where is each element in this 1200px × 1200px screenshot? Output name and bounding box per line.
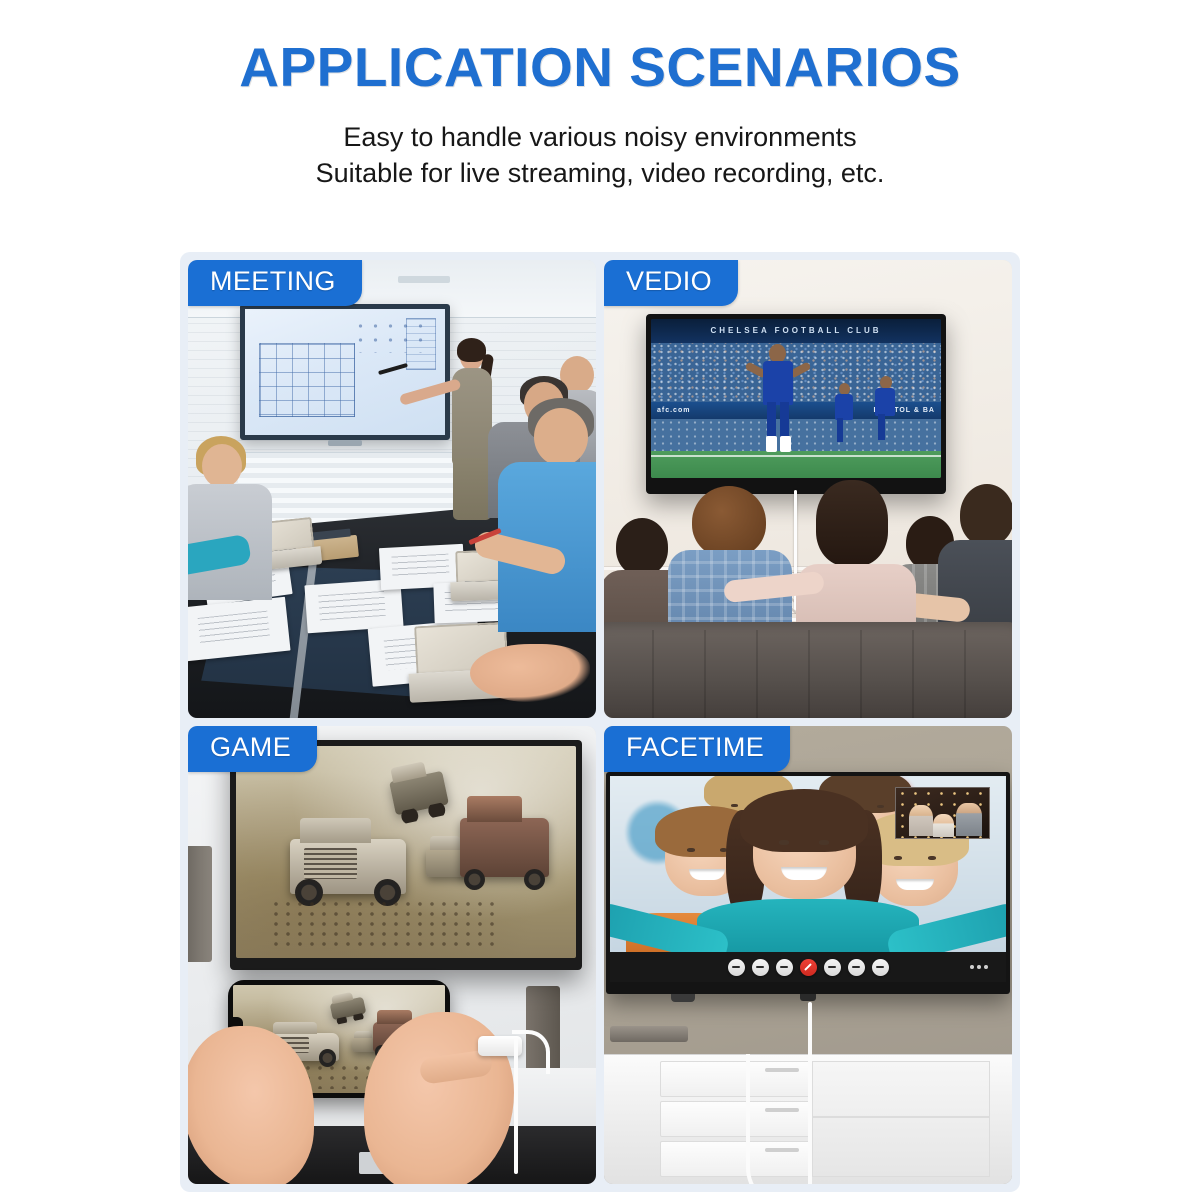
cabinet-shelf: [812, 1061, 990, 1177]
player-head: [839, 383, 850, 395]
player-jersey: [875, 388, 895, 416]
typing-hands: [470, 644, 590, 702]
page-subtitle: Easy to handle various noisy environment…: [0, 120, 1200, 192]
caller-center-sweater: [697, 899, 919, 952]
call-control-bar: [610, 952, 1006, 982]
floor-plan-graphic: [259, 343, 355, 417]
tv-indicator: [800, 994, 816, 1001]
eye: [731, 804, 737, 807]
tv-screen-video-call: [610, 776, 1006, 952]
eye: [779, 840, 788, 845]
share-button[interactable]: [848, 959, 865, 976]
smile: [896, 879, 934, 890]
suv-grille: [304, 848, 357, 879]
meeting-scene-image: [188, 260, 596, 718]
attendee-head: [534, 408, 588, 466]
eye: [877, 805, 884, 808]
footballer-celebrating: [755, 344, 801, 456]
page-header: APPLICATION SCENARIOS Easy to handle var…: [0, 0, 1200, 192]
hair: [740, 789, 868, 852]
plan-legend-graphic: [406, 318, 436, 370]
player-leg: [878, 414, 885, 440]
viewer-head: [960, 484, 1012, 546]
player-leg: [767, 402, 776, 438]
viewer-head: [616, 518, 668, 576]
footballer-background: [831, 383, 857, 449]
player-sock: [766, 436, 777, 452]
more-options-icon[interactable]: [970, 965, 988, 969]
subtitle-line-1: Easy to handle various noisy environment…: [0, 120, 1200, 156]
eye: [687, 848, 694, 852]
player-leg: [837, 418, 843, 442]
hdmi-cable: [514, 1038, 518, 1174]
tv-cable: [808, 1002, 812, 1184]
scenario-panel-vedio[interactable]: CHELSEA FOOTBALL CLUB afc.com BRISTOL & …: [604, 260, 1012, 718]
viewer-head: [816, 480, 888, 566]
picture-in-picture-thumbnail[interactable]: [895, 787, 990, 840]
pip-person: [956, 803, 982, 837]
wall-mounted-tv: CHELSEA FOOTBALL CLUB afc.com BRISTOL & …: [646, 314, 946, 494]
scenario-panel-meeting[interactable]: MEETING: [188, 260, 596, 718]
vedio-scene-image: CHELSEA FOOTBALL CLUB afc.com BRISTOL & …: [604, 260, 1012, 718]
pip-person: [909, 805, 933, 836]
display-stand: [328, 440, 362, 446]
tv-wall-mount: [671, 994, 695, 1002]
player-jersey: [763, 361, 793, 405]
panel-label-vedio: VEDIO: [604, 260, 738, 306]
document-sheet: [188, 597, 291, 662]
attendee-head: [202, 444, 242, 488]
scenario-grid-container: MEETING CHELSEA FOOTBALL CLUB afc.com BR…: [180, 252, 1020, 1192]
viewer-head: [692, 486, 766, 558]
scenario-grid: MEETING CHELSEA FOOTBALL CLUB afc.com BR…: [188, 260, 1012, 1184]
mute-button[interactable]: [776, 959, 793, 976]
red-truck: [460, 818, 548, 877]
eye: [894, 856, 902, 860]
sofa: [604, 622, 1012, 718]
dot: [970, 965, 974, 969]
scenario-panel-facetime[interactable]: FACETIME: [604, 726, 1012, 1184]
microphone-button[interactable]: [752, 959, 769, 976]
scenario-panel-game[interactable]: GAME: [188, 726, 596, 1184]
attendee-person: [188, 444, 274, 594]
facetime-scene-image: [604, 726, 1012, 1184]
dot: [984, 965, 988, 969]
stadium-banner-text: CHELSEA FOOTBALL CLUB: [651, 319, 941, 343]
advert-left-text: afc.com: [657, 407, 690, 414]
game-scene-image: [188, 726, 596, 1184]
lead-offroad-suv: [290, 839, 406, 894]
media-device: [610, 1026, 688, 1042]
page-title: APPLICATION SCENARIOS: [0, 38, 1200, 96]
panel-label-game: GAME: [188, 726, 317, 772]
eye: [819, 840, 828, 845]
wall-mounted-tv: [606, 772, 1010, 994]
player-sock: [780, 436, 791, 452]
wall-mounted-tv: [230, 740, 582, 970]
presenter-skirt: [453, 458, 491, 520]
pip-person: [933, 814, 953, 837]
eye: [928, 856, 936, 860]
panel-label-facetime: FACETIME: [604, 726, 790, 772]
player-leg: [780, 402, 789, 438]
camera-button[interactable]: [824, 959, 841, 976]
airborne-buggy: [329, 997, 366, 1021]
footballer-background: [871, 376, 899, 448]
tv-screen-racing-game: [236, 746, 576, 958]
presenter-hair: [457, 338, 486, 362]
caller-center: [753, 804, 856, 899]
meeting-presentation-display: [240, 304, 450, 440]
left-speaker: [188, 846, 212, 962]
panel-label-meeting: MEETING: [188, 260, 362, 306]
tv-screen-football: CHELSEA FOOTBALL CLUB afc.com BRISTOL & …: [651, 319, 941, 478]
add-person-button[interactable]: [872, 959, 889, 976]
mud-spray: [270, 899, 494, 950]
airborne-buggy: [389, 770, 449, 814]
attendee-person: [500, 408, 596, 628]
smile: [781, 867, 826, 880]
end-call-button[interactable]: [800, 959, 817, 976]
dot: [977, 965, 981, 969]
subtitle-line-2: Suitable for live streaming, video recor…: [0, 156, 1200, 192]
player-jersey: [835, 394, 853, 420]
minimize-button[interactable]: [728, 959, 745, 976]
